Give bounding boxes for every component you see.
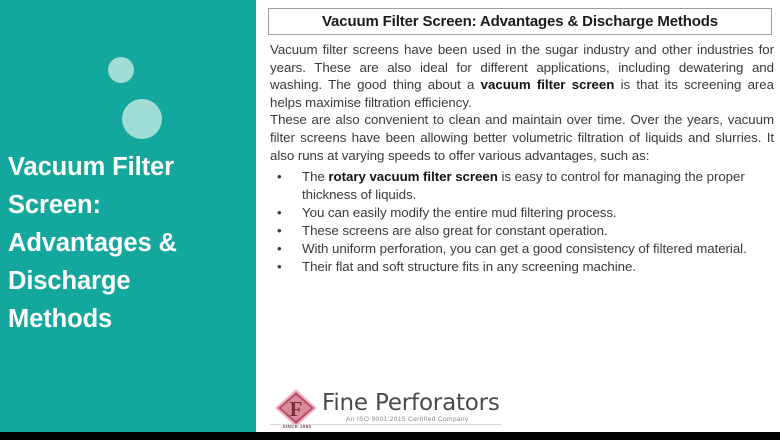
bullet-marker-icon: •	[277, 222, 282, 240]
bullet-marker-icon: •	[277, 258, 282, 276]
list-item-text: These screens are also great for constan…	[302, 223, 608, 238]
document-title-box: Vacuum Filter Screen: Advantages & Disch…	[268, 8, 772, 35]
list-item: • These screens are also great for const…	[270, 222, 774, 240]
bullet-marker-icon: •	[277, 240, 282, 258]
logo-underline-divider	[270, 424, 502, 425]
svg-text:F: F	[290, 397, 303, 421]
document-body: Vacuum filter screens have been used in …	[270, 41, 774, 276]
document-panel: Vacuum Filter Screen: Advantages & Disch…	[262, 0, 780, 432]
paragraph-1: Vacuum filter screens have been used in …	[270, 41, 774, 111]
slide-heading: Vacuum Filter Screen: Advantages & Disch…	[8, 148, 246, 338]
list-item: • You can easily modify the entire mud f…	[270, 204, 774, 222]
bullet-marker-icon: •	[277, 168, 282, 186]
company-logo: F SINCE 1980 Fine Perforators An ISO 900…	[274, 388, 504, 432]
advantages-bullet-list: • The rotary vacuum filter screen is eas…	[270, 168, 774, 276]
list-item-text: With uniform perforation, you can get a …	[302, 241, 747, 256]
list-item-text: You can easily modify the entire mud fil…	[302, 205, 617, 220]
bottom-black-bar	[0, 432, 780, 440]
list-item: • With uniform perforation, you can get …	[270, 240, 774, 258]
decorative-circle-small-icon	[108, 57, 134, 83]
list-item-text: Their flat and soft structure fits in an…	[302, 259, 636, 274]
document-title: Vacuum Filter Screen: Advantages & Disch…	[322, 13, 718, 30]
list-item: • The rotary vacuum filter screen is eas…	[270, 168, 774, 204]
paragraph-2: These are also convenient to clean and m…	[270, 111, 774, 164]
logo-tagline: An ISO 9001:2015 Certified Company	[346, 416, 469, 423]
list-item: • Their flat and soft structure fits in …	[270, 258, 774, 276]
bullet-marker-icon: •	[277, 204, 282, 222]
fine-perforators-diamond-icon: F	[274, 388, 318, 428]
slide-root: Vacuum Filter Screen: Advantages & Disch…	[0, 0, 780, 440]
left-teal-panel: Vacuum Filter Screen: Advantages & Disch…	[0, 0, 256, 432]
logo-company-name: Fine Perforators	[322, 390, 500, 416]
list-item-text: The rotary vacuum filter screen is easy …	[302, 169, 745, 202]
decorative-circle-large-icon	[122, 99, 162, 139]
